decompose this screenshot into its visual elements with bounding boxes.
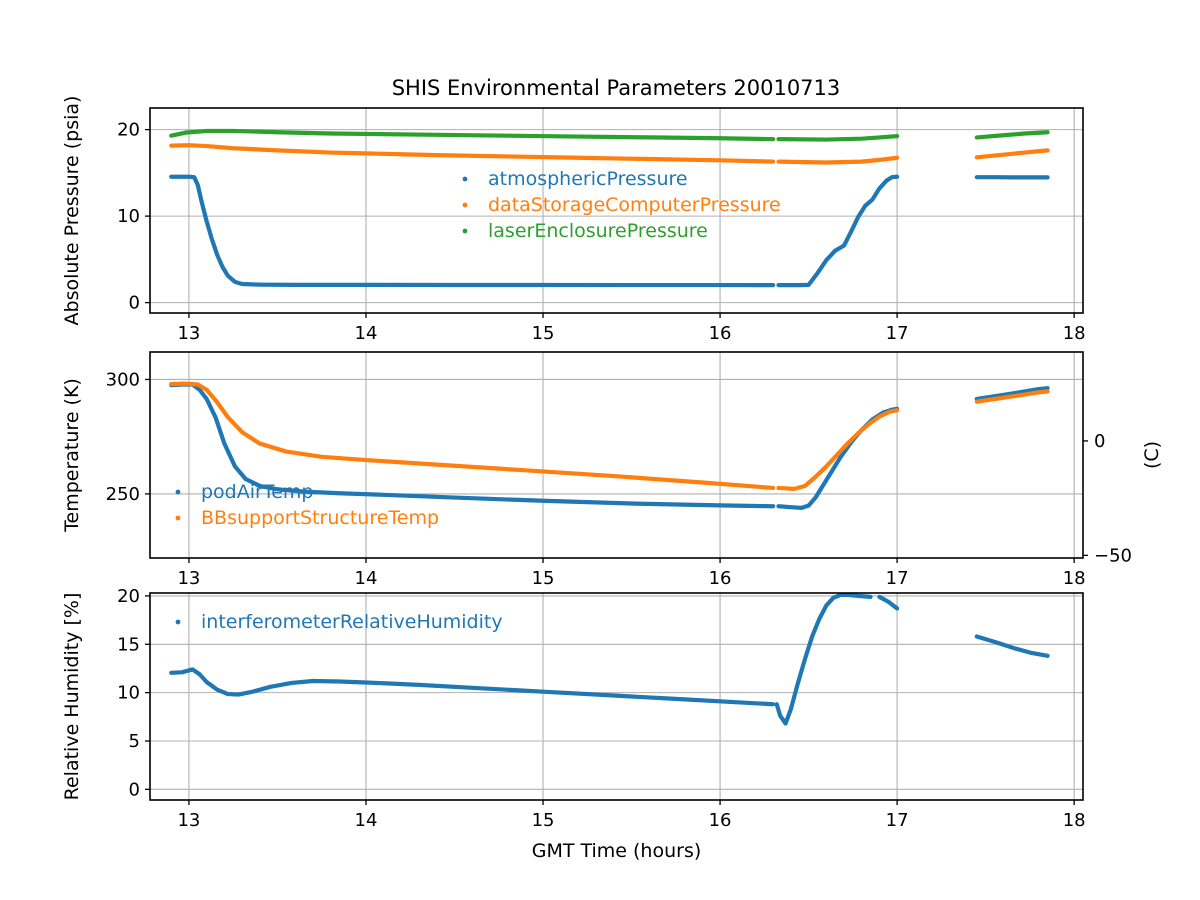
false: [463, 229, 468, 234]
xtick-label: 17: [886, 323, 909, 344]
false: [463, 203, 468, 208]
ytick-label: 10: [117, 206, 140, 227]
series-podAirTemp: [778, 409, 897, 508]
xtick-label: 15: [532, 810, 555, 831]
legend-panel-3: interferometerRelativeHumidity: [176, 611, 503, 633]
yaxis-label: Relative Humidity [%]: [61, 593, 83, 801]
xtick-label: 16: [709, 810, 732, 831]
series-BBsupportStructureTemp: [778, 410, 897, 489]
series-dataStorageComputerPressure: [171, 145, 773, 161]
series-laserEnclosurePressure: [778, 136, 897, 139]
legend-label: dataStorageComputerPressure: [488, 194, 781, 216]
ytick-right-label: −50: [1094, 545, 1132, 566]
series-interferometerRelativeHumidity: [977, 637, 1048, 656]
xtick-label: 14: [355, 810, 378, 831]
xtick-label: 18: [1063, 323, 1086, 344]
ytick-right-label: 0: [1094, 431, 1105, 452]
ytick-label: 15: [117, 634, 140, 655]
xtick-label: 17: [886, 568, 909, 589]
legend-label: interferometerRelativeHumidity: [201, 611, 503, 633]
yaxis-label: Absolute Pressure (psia): [61, 96, 83, 326]
xtick-label: 18: [1063, 568, 1086, 589]
series-laserEnclosurePressure: [171, 131, 773, 139]
series-laserEnclosurePressure: [977, 132, 1048, 137]
ytick-label: 5: [129, 731, 140, 752]
series-atmosphericPressure: [778, 177, 897, 285]
ytick-label: 250: [106, 484, 140, 505]
panel-2: 1314151617182503000−50(C)Temperature (K)…: [61, 352, 1163, 589]
xaxis-label: GMT Time (hours): [532, 840, 702, 862]
legend-panel-2: podAirTempBBsupportStructureTemp: [176, 481, 439, 529]
ytick-label: 10: [117, 683, 140, 704]
page-title: SHIS Environmental Parameters 20010713: [392, 76, 841, 100]
panel-1: 13141516171801020Absolute Pressure (psia…: [61, 96, 1086, 344]
ytick-label: 300: [106, 369, 140, 390]
false: [176, 620, 181, 625]
figure-canvas: SHIS Environmental Parameters 2001071313…: [0, 0, 1200, 900]
ytick-label: 20: [117, 120, 140, 141]
xtick-label: 17: [886, 810, 909, 831]
legend-label: laserEnclosurePressure: [488, 220, 708, 242]
ytick-label: 0: [129, 779, 140, 800]
xtick-label: 16: [709, 323, 732, 344]
xtick-label: 14: [355, 323, 378, 344]
panel-3: 13141516171805101520Relative Humidity [%…: [61, 586, 1086, 862]
false: [176, 490, 181, 495]
xtick-label: 13: [177, 810, 200, 831]
false: [176, 516, 181, 521]
legend-label: podAirTemp: [201, 481, 313, 503]
series-interferometerRelativeHumidity: [879, 597, 897, 609]
yaxis-right-label: (C): [1141, 441, 1163, 469]
xtick-label: 16: [709, 568, 732, 589]
series-dataStorageComputerPressure: [778, 158, 897, 163]
xtick-label: 14: [355, 568, 378, 589]
legend-label: BBsupportStructureTemp: [201, 507, 439, 529]
xtick-label: 15: [532, 323, 555, 344]
xtick-label: 13: [177, 568, 200, 589]
series-interferometerRelativeHumidity: [777, 595, 871, 724]
ytick-label: 20: [117, 586, 140, 607]
legend-panel-1: atmosphericPressuredataStorageComputerPr…: [463, 168, 781, 242]
environmental-parameters-chart: SHIS Environmental Parameters 2001071313…: [0, 0, 1200, 900]
series-interferometerRelativeHumidity: [171, 669, 773, 704]
xtick-label: 18: [1063, 810, 1086, 831]
legend-label: atmosphericPressure: [488, 168, 688, 190]
xtick-label: 15: [532, 568, 555, 589]
yaxis-label: Temperature (K): [61, 378, 83, 533]
false: [463, 177, 468, 182]
ytick-label: 0: [129, 293, 140, 314]
series-BBsupportStructureTemp: [171, 384, 773, 488]
xtick-label: 13: [177, 323, 200, 344]
series-dataStorageComputerPressure: [977, 150, 1048, 157]
